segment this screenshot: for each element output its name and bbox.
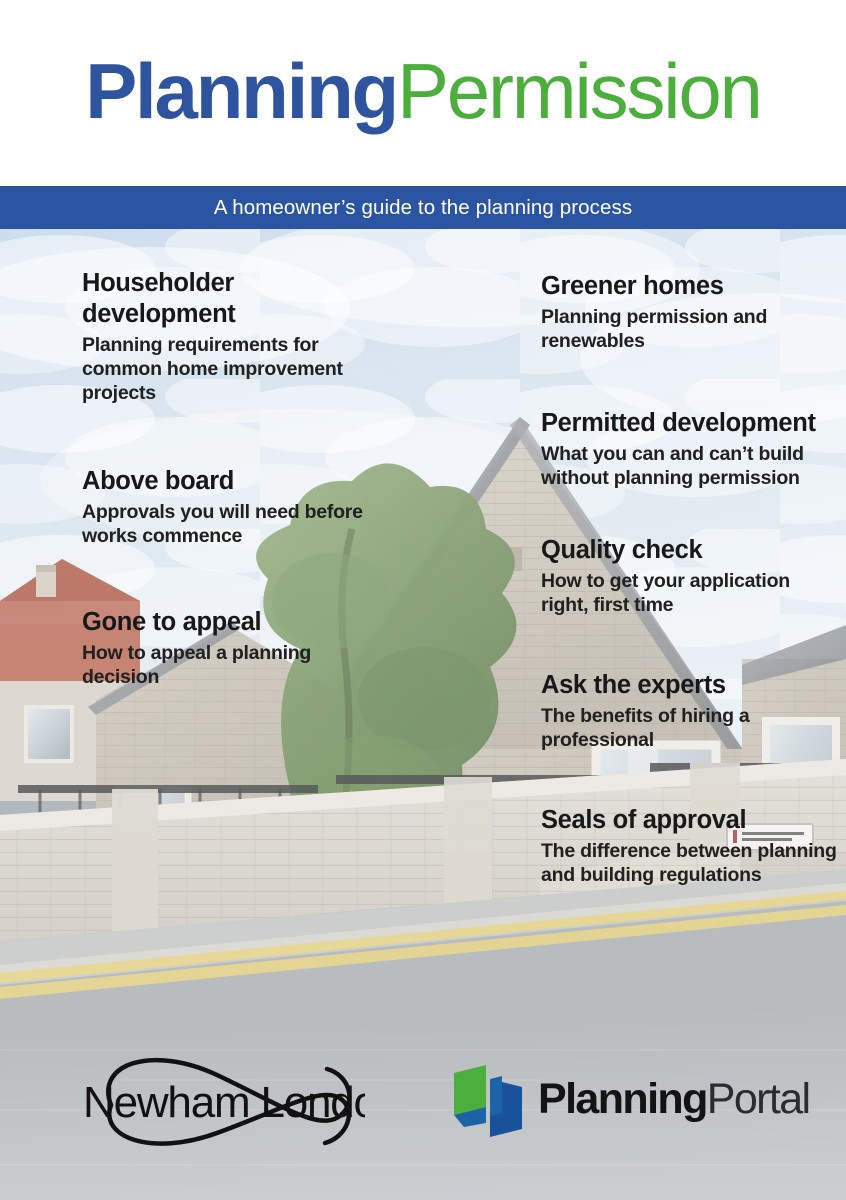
entry-subtitle: What you can and can’t build without pla… — [541, 443, 841, 491]
strapline-banner: A homeowner’s guide to the planning proc… — [0, 186, 846, 229]
entry-subtitle: The difference between planning and buil… — [541, 840, 841, 888]
contents-right-column: Greener homes Planning permission and re… — [541, 271, 841, 888]
entry-heading: Permitted development — [541, 408, 841, 439]
contents-entry-gone-to-appeal[interactable]: Gone to appeal How to appeal a planning … — [82, 607, 392, 690]
entry-subtitle: Approvals you will need before works com… — [82, 501, 392, 549]
newham-london-logo[interactable]: Newham London — [75, 1041, 365, 1161]
contents-entry-ask-the-experts[interactable]: Ask the experts The benefits of hiring a… — [541, 670, 841, 753]
entry-subtitle: Planning requirements for common home im… — [82, 334, 392, 406]
newham-london-wordmark: Newham London — [83, 1078, 365, 1127]
entry-heading: Above board — [82, 466, 392, 497]
entry-subtitle: How to get your application right, first… — [541, 570, 841, 618]
contents-left-column: Householder development Planning require… — [82, 268, 392, 690]
entry-heading: Householder development — [82, 268, 392, 330]
contents-entry-greener-homes[interactable]: Greener homes Planning permission and re… — [541, 271, 841, 354]
planning-portal-mark-icon — [452, 1063, 524, 1137]
page-title: PlanningPermission — [85, 52, 761, 130]
planning-permission-cover: PlanningPermission A homeowner’s guide t… — [0, 0, 846, 1200]
entry-heading: Greener homes — [541, 271, 841, 302]
masthead: PlanningPermission — [0, 0, 846, 186]
contents-entry-permitted-development[interactable]: Permitted development What you can and c… — [541, 408, 841, 491]
strapline-text: A homeowner’s guide to the planning proc… — [214, 196, 632, 220]
contents-entry-seals-of-approval[interactable]: Seals of approval The difference between… — [541, 805, 841, 888]
planning-portal-wordmark-primary: Planning — [538, 1075, 707, 1123]
entry-subtitle: How to appeal a planning decision — [82, 642, 392, 690]
planning-portal-wordmark-secondary: Portal — [707, 1075, 810, 1123]
entry-heading: Quality check — [541, 535, 841, 566]
contents-entry-quality-check[interactable]: Quality check How to get your applicatio… — [541, 535, 841, 618]
entry-heading: Gone to appeal — [82, 607, 392, 638]
entry-heading: Seals of approval — [541, 805, 841, 836]
entry-heading: Ask the experts — [541, 670, 841, 701]
page-title-secondary: Permission — [397, 47, 761, 135]
entry-subtitle: The benefits of hiring a professional — [541, 705, 841, 753]
planning-portal-logo[interactable]: PlanningPortal — [452, 1055, 782, 1145]
contents-entry-above-board[interactable]: Above board Approvals you will need befo… — [82, 466, 392, 549]
planning-portal-wordmark: PlanningPortal — [538, 1078, 810, 1121]
page-title-primary: Planning — [85, 47, 397, 135]
contents-entry-householder-development[interactable]: Householder development Planning require… — [82, 268, 392, 406]
entry-subtitle: Planning permission and renewables — [541, 306, 841, 354]
